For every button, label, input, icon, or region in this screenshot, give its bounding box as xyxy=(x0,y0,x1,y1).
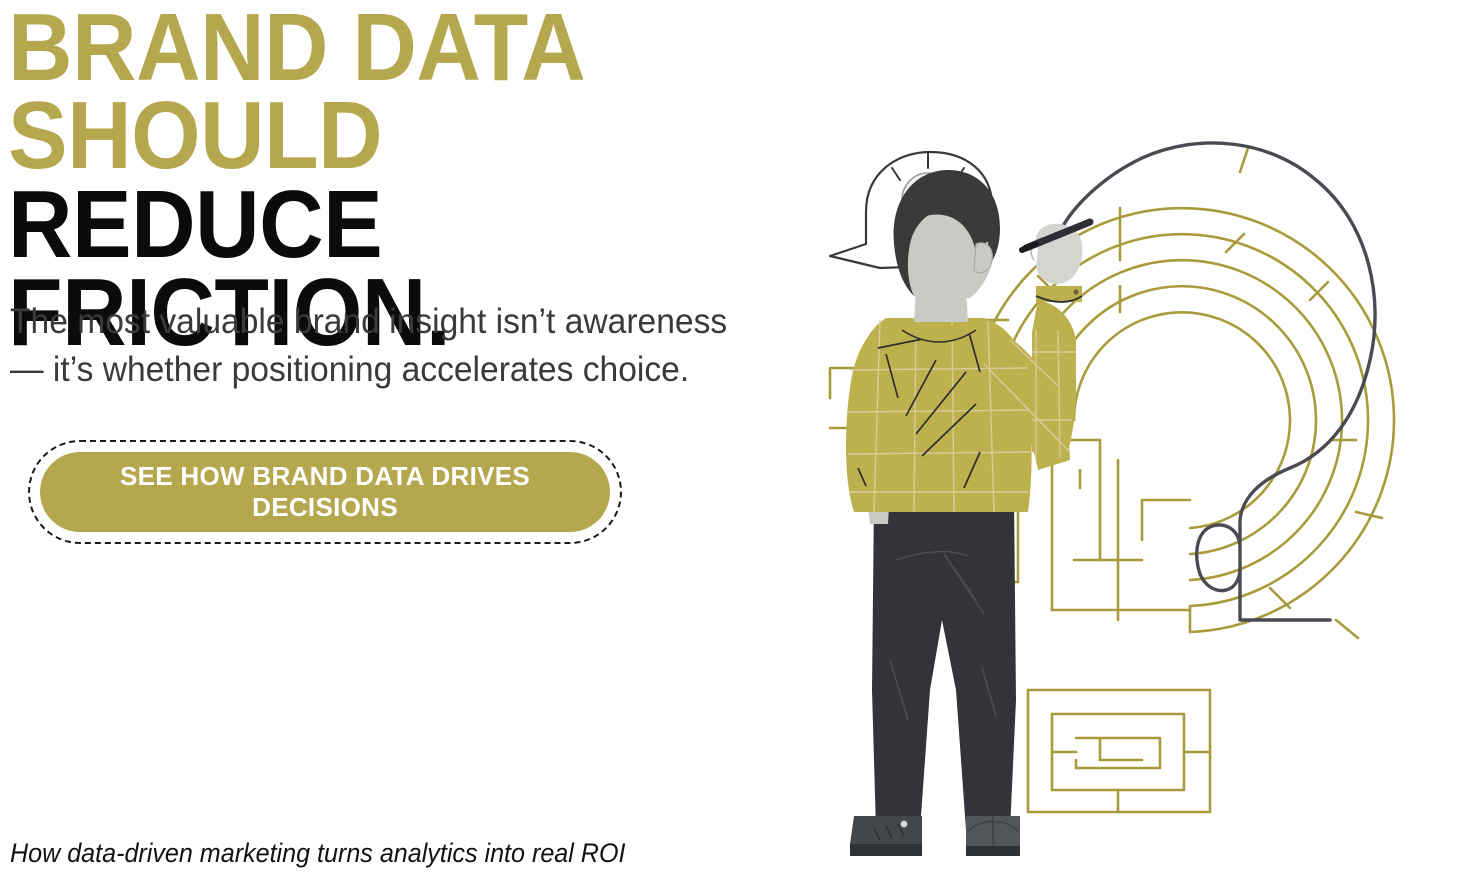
see-how-brand-data-drives-decisions-button[interactable]: SEE HOW BRAND DATA DRIVES DECISIONS xyxy=(40,452,610,532)
headline-line-1: BRAND DATA SHOULD xyxy=(8,4,733,181)
poster-canvas: BRAND DATA SHOULD REDUCE FRICTION. The m… xyxy=(0,0,1470,891)
subheadline: The most valuable brand insight isn’t aw… xyxy=(10,298,740,395)
cta-button-wrapper[interactable]: SEE HOW BRAND DATA DRIVES DECISIONS xyxy=(28,440,622,544)
copy-block: BRAND DATA SHOULD REDUCE FRICTION. The m… xyxy=(8,0,798,891)
illustration xyxy=(770,0,1470,891)
footnote-caption: How data-driven marketing turns analytic… xyxy=(10,838,717,869)
